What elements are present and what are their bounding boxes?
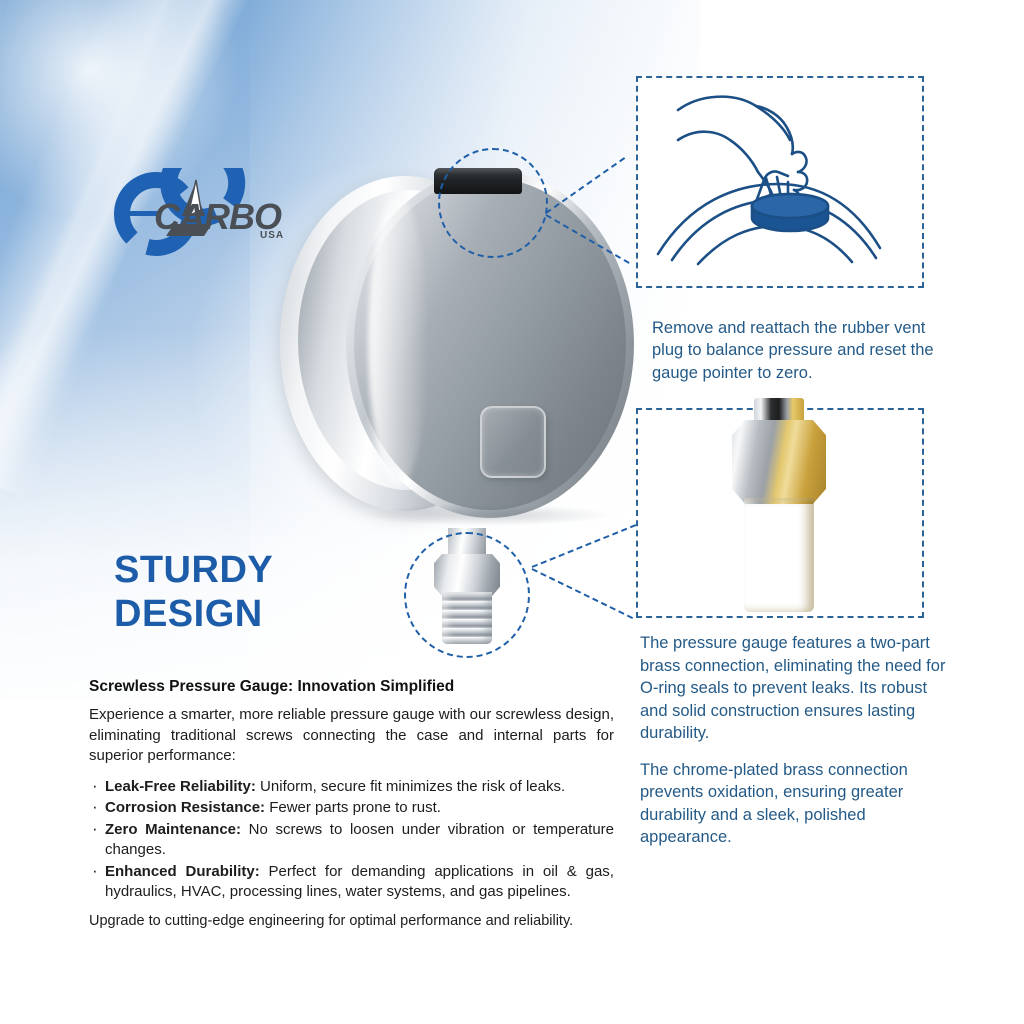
list-item: Leak-Free Reliability: Uniform, secure f… (89, 777, 614, 798)
list-item: Enhanced Durability: Perfect for demandi… (89, 862, 614, 903)
gauge-highlight (368, 196, 428, 486)
feature-text: Uniform, secure fit minimizes the risk o… (256, 778, 565, 795)
gauge-square-emblem (480, 406, 546, 478)
list-item: Corrosion Resistance: Fewer parts prone … (89, 798, 614, 819)
description-intro: Experience a smarter, more reliable pres… (89, 705, 614, 767)
title-line-2: DESIGN (114, 592, 273, 636)
infographic-page: CARBO USA (0, 0, 1024, 1024)
vent-plug-illustration-box (636, 76, 924, 288)
feature-label: Leak-Free Reliability: (105, 778, 256, 795)
brand-logo: CARBO USA (108, 168, 298, 260)
hand-removing-vent-plug-icon (638, 78, 918, 282)
list-item: Zero Maintenance: No screws to loosen un… (89, 820, 614, 861)
feature-list: Leak-Free Reliability: Uniform, secure f… (89, 777, 614, 903)
fitting-hex-head (732, 420, 826, 504)
feature-label: Corrosion Resistance: (105, 799, 265, 816)
feature-text: Fewer parts prone to rust. (265, 799, 441, 816)
title-line-1: STURDY (114, 548, 273, 592)
description-outro: Upgrade to cutting-edge engineering for … (89, 911, 614, 931)
page-title: STURDY DESIGN (114, 548, 273, 636)
chrome-brass-threaded-fitting-photo (724, 398, 834, 616)
callout-circle-stem (404, 532, 530, 658)
description-heading: Screwless Pressure Gauge: Innovation Sim… (89, 678, 614, 696)
vent-plug-caption: Remove and reattach the rubber vent plug… (652, 317, 952, 385)
description-block: Screwless Pressure Gauge: Innovation Sim… (89, 678, 614, 931)
brass-caption-paragraph-2: The chrome-plated brass connection preve… (640, 759, 946, 849)
feature-label: Zero Maintenance: (105, 821, 241, 838)
brass-connection-caption: The pressure gauge features a two-part b… (640, 632, 946, 863)
feature-label: Enhanced Durability: (105, 863, 260, 880)
fitting-threads (744, 498, 814, 612)
gauge-shadow (362, 504, 612, 526)
brass-caption-paragraph-1: The pressure gauge features a two-part b… (640, 632, 946, 745)
callout-circle-vent-plug (438, 148, 548, 258)
